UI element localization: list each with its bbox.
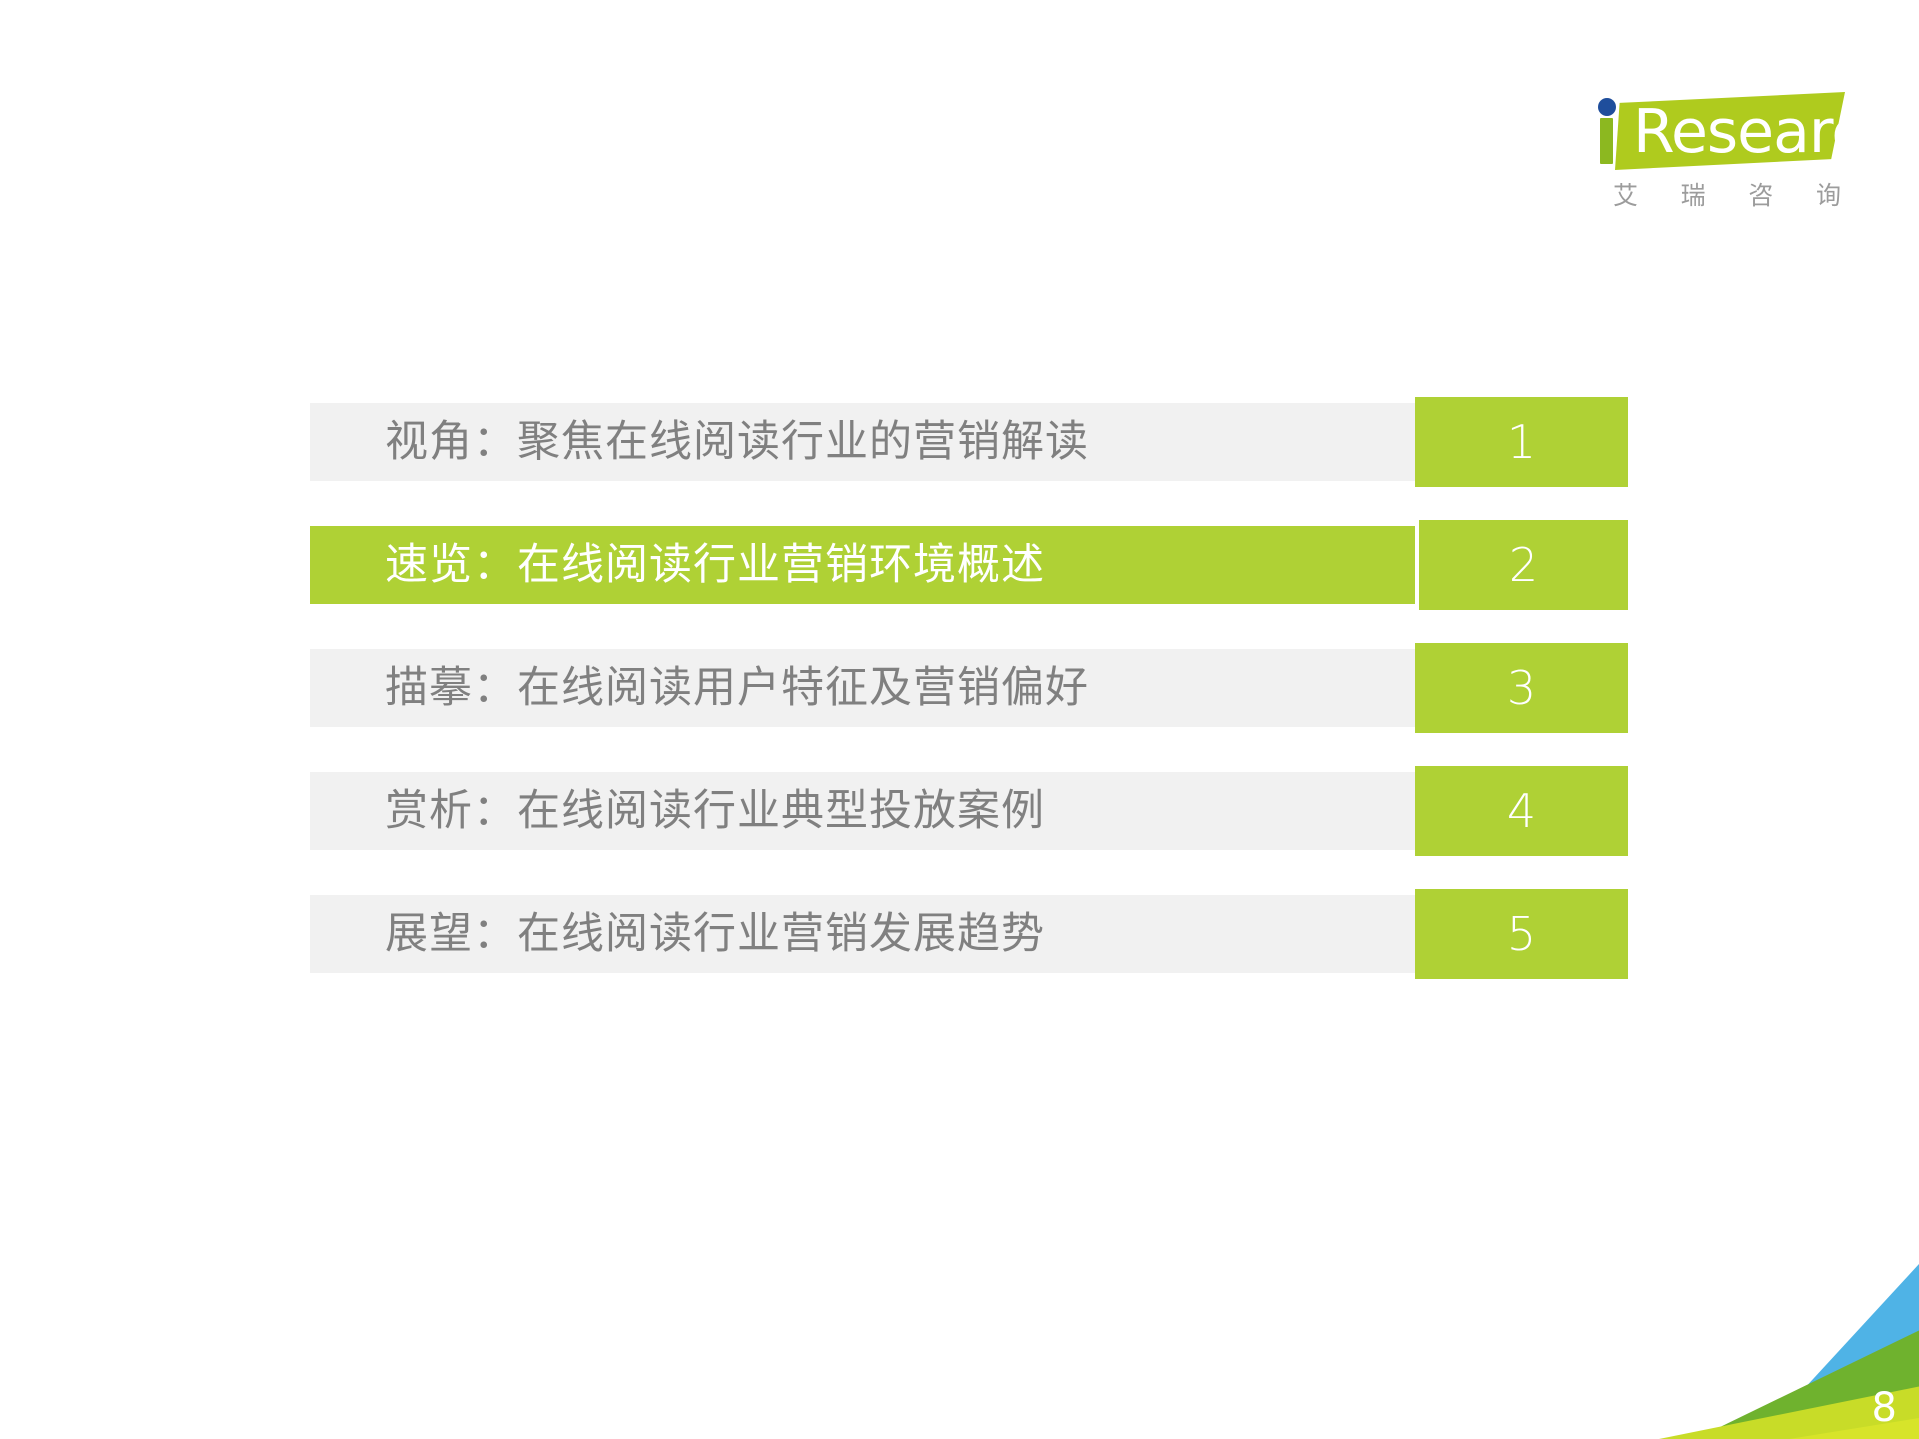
agenda-item-3-label: 描摹：在线阅读用户特征及营销偏好	[385, 663, 1089, 713]
agenda-item-2-label: 速览：在线阅读行业营销环境概述	[385, 540, 1045, 590]
agenda-item-5-label-bar[interactable]: 展望：在线阅读行业营销发展趋势	[310, 895, 1415, 973]
agenda-item-5-number-badge[interactable]: 5	[1415, 889, 1628, 979]
logo-subtitle-char-3: 咨	[1748, 176, 1773, 212]
agenda-item-2-label-bar[interactable]: 速览：在线阅读行业营销环境概述	[310, 526, 1415, 604]
agenda-item-3-label-bar[interactable]: 描摹：在线阅读用户特征及营销偏好	[310, 649, 1415, 727]
agenda-item-1-label-bar[interactable]: 视角：聚焦在线阅读行业的营销解读	[310, 403, 1415, 481]
corner-decoration: 8	[1659, 1264, 1919, 1439]
agenda-item-2[interactable]: 速览：在线阅读行业营销环境概述 2	[310, 526, 1628, 604]
logo-subtitle-char-2: 瑞	[1681, 176, 1706, 212]
logo-subtitle-char-1: 艾	[1613, 176, 1638, 212]
iresearch-logo: Research 艾 瑞 咨 询	[1595, 90, 1855, 220]
agenda-item-2-number: 2	[1509, 540, 1538, 590]
agenda-item-4[interactable]: 赏析：在线阅读行业典型投放案例 4	[310, 772, 1628, 850]
agenda-item-1[interactable]: 视角：聚焦在线阅读行业的营销解读 1	[310, 403, 1628, 481]
page-number: 8	[1872, 1385, 1897, 1431]
agenda-item-5-number: 5	[1507, 909, 1536, 959]
agenda-item-4-label-bar[interactable]: 赏析：在线阅读行业典型投放案例	[310, 772, 1415, 850]
logo-i-stem-icon	[1600, 118, 1613, 164]
agenda-item-3[interactable]: 描摹：在线阅读用户特征及营销偏好 3	[310, 649, 1628, 727]
logo-subtitle-char-4: 询	[1816, 176, 1841, 212]
agenda-item-2-number-badge[interactable]: 2	[1415, 520, 1628, 610]
logo-wordmark: Research	[1633, 96, 1900, 168]
logo-mark: Research	[1595, 90, 1845, 172]
agenda-item-5[interactable]: 展望：在线阅读行业营销发展趋势 5	[310, 895, 1628, 973]
agenda-item-5-label: 展望：在线阅读行业营销发展趋势	[385, 909, 1045, 959]
agenda-list: 视角：聚焦在线阅读行业的营销解读 1 速览：在线阅读行业营销环境概述 2 描摹：…	[310, 403, 1628, 973]
agenda-item-1-number: 1	[1507, 417, 1536, 467]
agenda-item-1-number-badge[interactable]: 1	[1415, 397, 1628, 487]
agenda-item-3-number-badge[interactable]: 3	[1415, 643, 1628, 733]
agenda-item-3-number: 3	[1507, 663, 1536, 713]
logo-i-dot-icon	[1598, 98, 1616, 116]
logo-subtitle: 艾 瑞 咨 询	[1613, 176, 1841, 212]
agenda-item-1-label: 视角：聚焦在线阅读行业的营销解读	[385, 417, 1089, 467]
agenda-item-4-label: 赏析：在线阅读行业典型投放案例	[385, 786, 1045, 836]
agenda-item-4-number: 4	[1507, 786, 1536, 836]
agenda-item-4-number-badge[interactable]: 4	[1415, 766, 1628, 856]
